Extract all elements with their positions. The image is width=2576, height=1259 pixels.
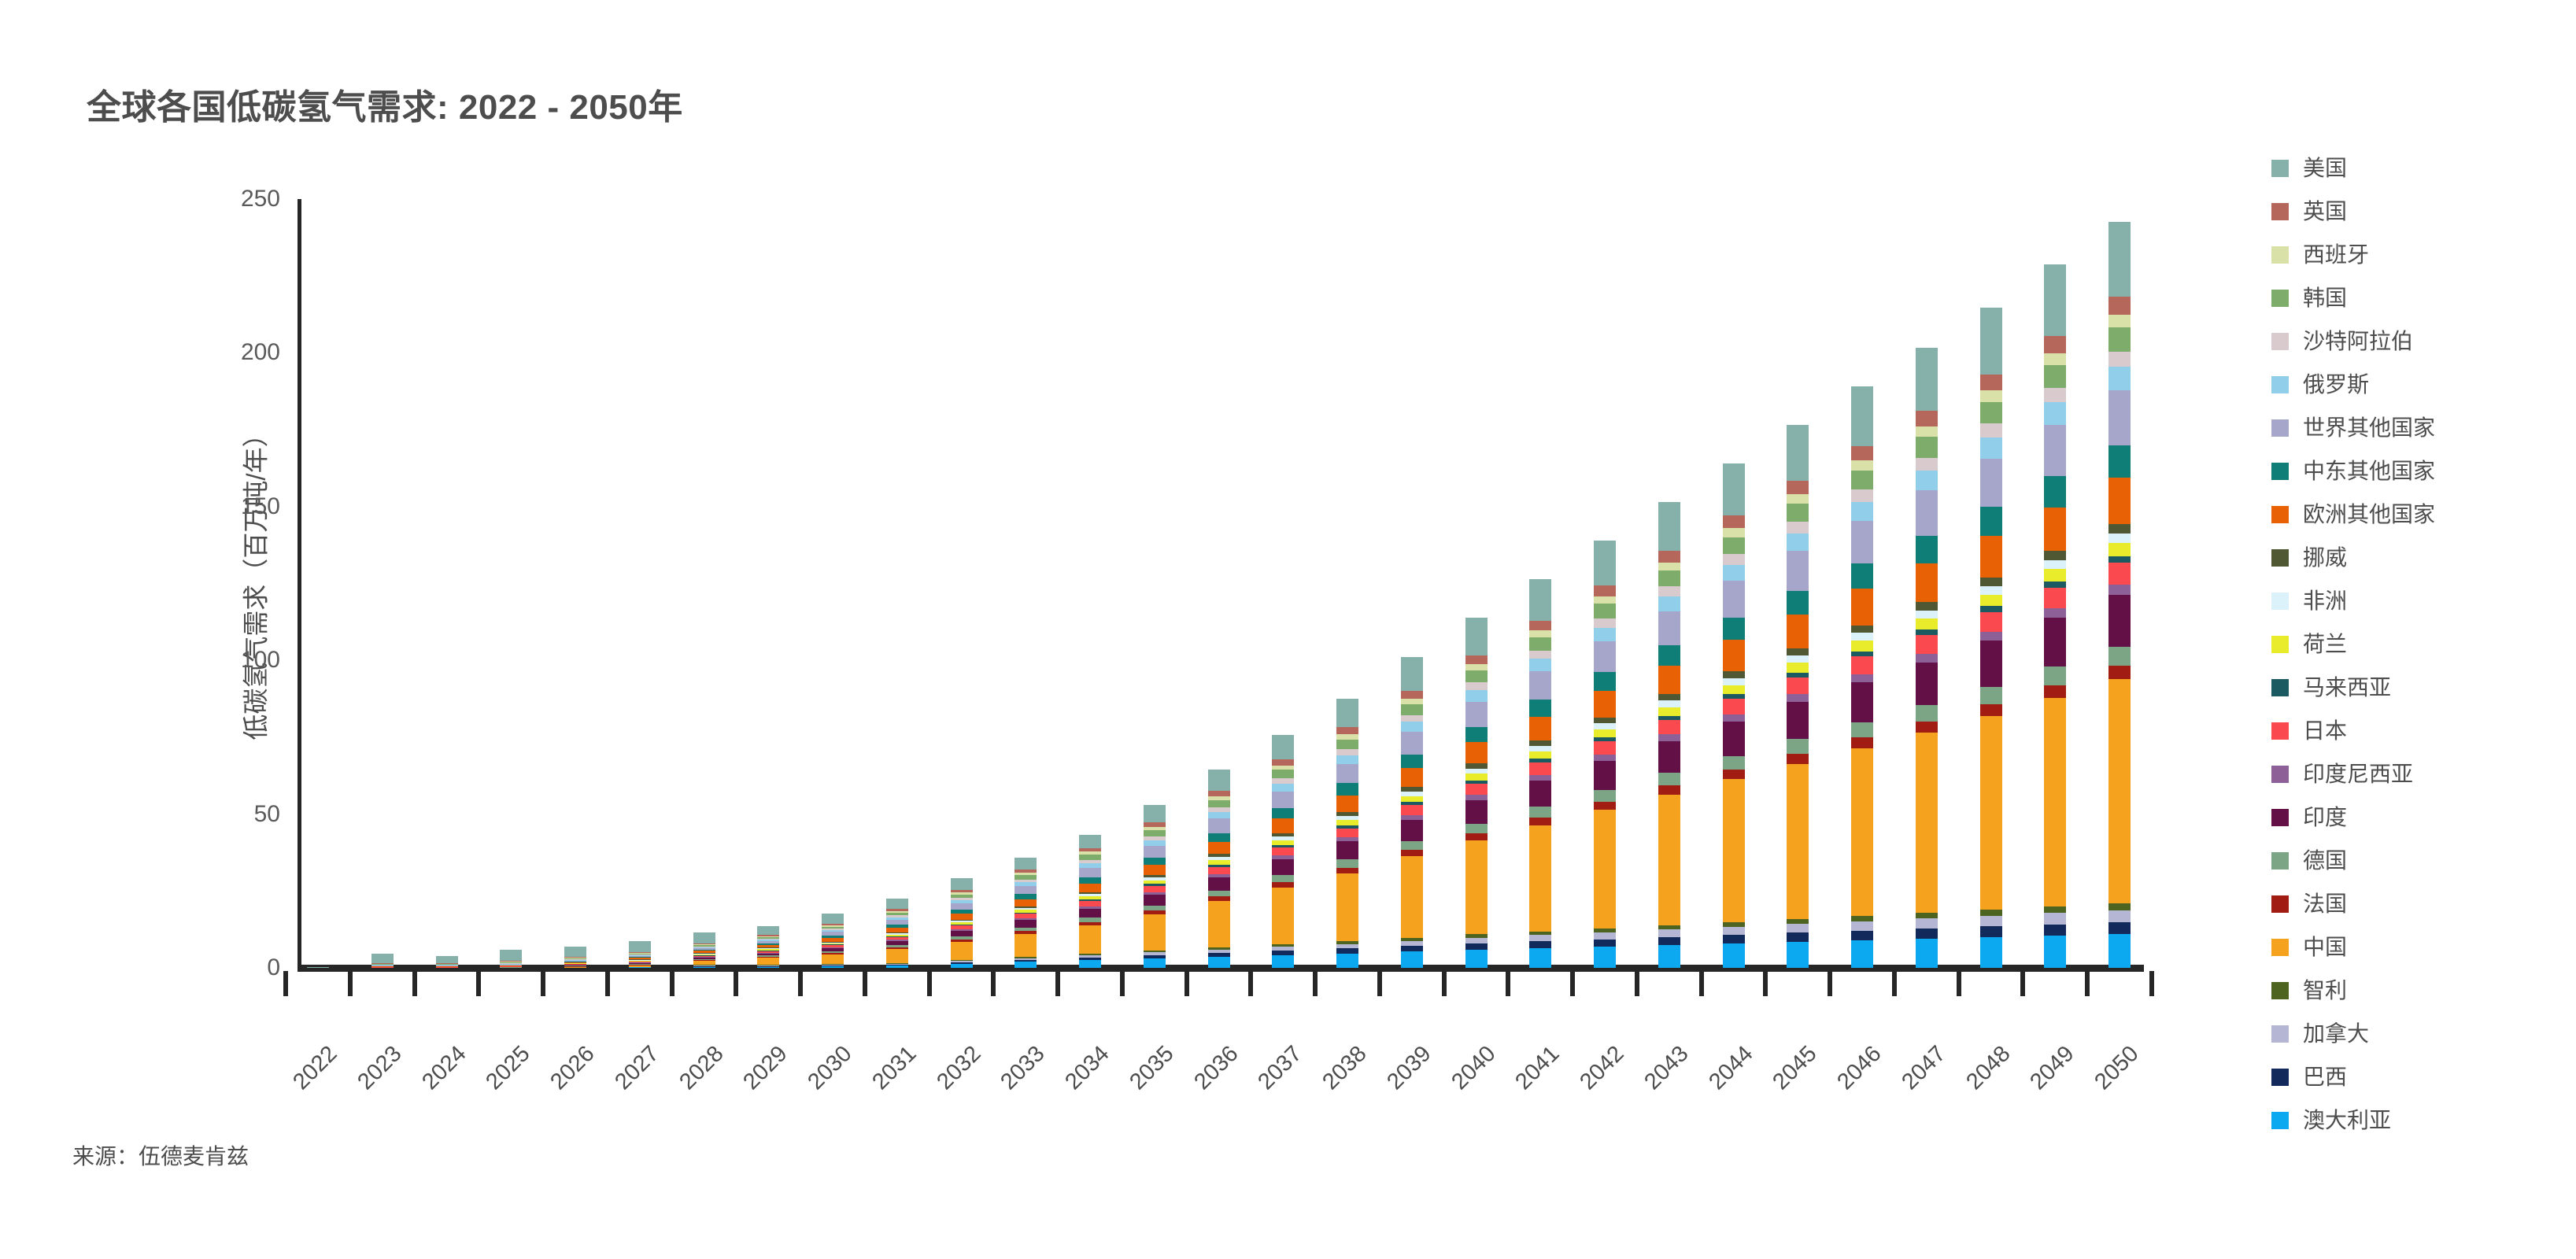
bar-segment[interactable] bbox=[1980, 632, 2002, 641]
bar-segment[interactable] bbox=[1529, 746, 1551, 751]
bar-segment[interactable] bbox=[371, 967, 394, 968]
bar-segment[interactable] bbox=[2044, 906, 2066, 913]
bar-segment[interactable] bbox=[1336, 873, 1358, 941]
bar-segment[interactable] bbox=[2108, 524, 2131, 534]
bar-segment[interactable] bbox=[436, 967, 458, 968]
bar-segment[interactable] bbox=[1723, 618, 1745, 640]
bar-segment[interactable] bbox=[1401, 732, 1423, 754]
bar-segment[interactable] bbox=[2044, 666, 2066, 685]
bar-segment[interactable] bbox=[1208, 833, 1230, 842]
bar-segment[interactable] bbox=[1594, 741, 1616, 755]
bar-segment[interactable] bbox=[2044, 264, 2066, 335]
bar-segment[interactable] bbox=[307, 967, 329, 968]
bar-stack[interactable] bbox=[564, 947, 586, 968]
bar-segment[interactable] bbox=[2108, 352, 2131, 367]
bar-stack[interactable] bbox=[1144, 805, 1166, 968]
bar-segment[interactable] bbox=[1208, 901, 1230, 947]
bar-segment[interactable] bbox=[1465, 742, 1488, 763]
bar-segment[interactable] bbox=[1723, 770, 1745, 779]
bar-segment[interactable] bbox=[1144, 830, 1166, 836]
bar-segment[interactable] bbox=[1336, 699, 1358, 727]
bar-segment[interactable] bbox=[1336, 764, 1358, 784]
legend-item[interactable]: 西班牙 bbox=[2271, 233, 2539, 276]
bar-segment[interactable] bbox=[1916, 563, 1938, 602]
bar-segment[interactable] bbox=[1851, 682, 1873, 722]
bar-segment[interactable] bbox=[1787, 522, 1809, 534]
legend-item[interactable]: 巴西 bbox=[2271, 1055, 2539, 1098]
bar-segment[interactable] bbox=[1401, 856, 1423, 938]
legend-item[interactable]: 印度尼西亚 bbox=[2271, 752, 2539, 796]
bar-segment[interactable] bbox=[2108, 543, 2131, 556]
bar-segment[interactable] bbox=[2044, 936, 2066, 968]
bar-segment[interactable] bbox=[1851, 641, 1873, 651]
bar-segment[interactable] bbox=[1851, 656, 1873, 674]
legend-item[interactable]: 欧洲其他国家 bbox=[2271, 493, 2539, 536]
bar-segment[interactable] bbox=[1272, 818, 1294, 833]
bar-segment[interactable] bbox=[629, 941, 651, 952]
bar-segment[interactable] bbox=[2044, 336, 2066, 353]
bar-segment[interactable] bbox=[1594, 947, 1616, 968]
bar-segment[interactable] bbox=[1015, 920, 1037, 927]
bar-segment[interactable] bbox=[1723, 756, 1745, 770]
bar-segment[interactable] bbox=[1144, 958, 1166, 968]
bar-segment[interactable] bbox=[2108, 445, 2131, 478]
bar-segment[interactable] bbox=[1529, 579, 1551, 620]
legend-item[interactable]: 中东其他国家 bbox=[2271, 449, 2539, 493]
bar-segment[interactable] bbox=[2108, 922, 2131, 935]
bar-segment[interactable] bbox=[1658, 645, 1680, 666]
bar-segment[interactable] bbox=[1658, 929, 1680, 937]
bar-segment[interactable] bbox=[1723, 554, 1745, 565]
bar-segment[interactable] bbox=[1851, 471, 1873, 490]
bar-stack[interactable] bbox=[371, 954, 394, 969]
legend-item[interactable]: 印度 bbox=[2271, 796, 2539, 839]
bar-segment[interactable] bbox=[1465, 618, 1488, 655]
bar-segment[interactable] bbox=[1529, 700, 1551, 717]
legend-item[interactable]: 美国 bbox=[2271, 146, 2539, 190]
legend-item[interactable]: 俄罗斯 bbox=[2271, 363, 2539, 406]
legend-item[interactable]: 日本 bbox=[2271, 709, 2539, 752]
bar-segment[interactable] bbox=[1465, 670, 1488, 682]
bar-segment[interactable] bbox=[822, 966, 844, 968]
bar-segment[interactable] bbox=[1916, 733, 1938, 913]
bar-segment[interactable] bbox=[1465, 690, 1488, 701]
bar-segment[interactable] bbox=[2108, 910, 2131, 922]
bar-stack[interactable] bbox=[757, 926, 779, 968]
bar-segment[interactable] bbox=[1851, 748, 1873, 916]
bar-segment[interactable] bbox=[500, 950, 522, 961]
bar-segment[interactable] bbox=[1015, 962, 1037, 968]
bar-segment[interactable] bbox=[1851, 489, 1873, 502]
bar-segment[interactable] bbox=[1529, 941, 1551, 948]
bar-segment[interactable] bbox=[1144, 840, 1166, 846]
bar-segment[interactable] bbox=[2044, 608, 2066, 618]
bar-segment[interactable] bbox=[1980, 586, 2002, 595]
bar-stack[interactable] bbox=[1787, 425, 1809, 968]
bar-segment[interactable] bbox=[1144, 865, 1166, 875]
bar-segment[interactable] bbox=[1594, 932, 1616, 940]
bar-stack[interactable] bbox=[1015, 858, 1037, 968]
bar-segment[interactable] bbox=[2044, 551, 2066, 560]
bar-segment[interactable] bbox=[1401, 657, 1423, 691]
bar-segment[interactable] bbox=[1272, 859, 1294, 875]
bar-segment[interactable] bbox=[1916, 705, 1938, 722]
bar-segment[interactable] bbox=[1465, 943, 1488, 950]
bar-segment[interactable] bbox=[1529, 807, 1551, 818]
bar-segment[interactable] bbox=[1079, 877, 1101, 884]
bar-segment[interactable] bbox=[951, 964, 973, 968]
bar-segment[interactable] bbox=[1594, 723, 1616, 729]
bar-segment[interactable] bbox=[2108, 478, 2131, 524]
bar-segment[interactable] bbox=[1787, 648, 1809, 655]
bar-segment[interactable] bbox=[1336, 727, 1358, 734]
bar-segment[interactable] bbox=[1916, 913, 1938, 918]
bar-segment[interactable] bbox=[1465, 727, 1488, 743]
bar-segment[interactable] bbox=[1787, 694, 1809, 701]
bar-segment[interactable] bbox=[2044, 508, 2066, 551]
bar-stack[interactable] bbox=[2044, 264, 2066, 968]
bar-segment[interactable] bbox=[1465, 840, 1488, 934]
bar-segment[interactable] bbox=[1658, 945, 1680, 968]
bar-segment[interactable] bbox=[1015, 858, 1037, 870]
bar-stack[interactable] bbox=[2108, 222, 2131, 968]
bar-segment[interactable] bbox=[1851, 502, 1873, 521]
bar-stack[interactable] bbox=[1465, 618, 1488, 968]
bar-segment[interactable] bbox=[1723, 565, 1745, 582]
bar-segment[interactable] bbox=[1787, 754, 1809, 764]
legend-item[interactable]: 智利 bbox=[2271, 969, 2539, 1012]
bar-segment[interactable] bbox=[1079, 868, 1101, 878]
bar-segment[interactable] bbox=[1851, 589, 1873, 625]
bar-segment[interactable] bbox=[1980, 390, 2002, 401]
bar-stack[interactable] bbox=[693, 932, 715, 968]
legend-item[interactable]: 世界其他国家 bbox=[2271, 406, 2539, 449]
bar-segment[interactable] bbox=[2044, 365, 2066, 388]
bar-segment[interactable] bbox=[1787, 504, 1809, 522]
bar-segment[interactable] bbox=[1401, 699, 1423, 704]
bar-stack[interactable] bbox=[307, 967, 329, 968]
bar-segment[interactable] bbox=[1594, 691, 1616, 718]
bar-segment[interactable] bbox=[1594, 596, 1616, 604]
bar-segment[interactable] bbox=[1916, 411, 1938, 426]
bar-segment[interactable] bbox=[1787, 942, 1809, 968]
bar-segment[interactable] bbox=[2108, 534, 2131, 544]
bar-segment[interactable] bbox=[1015, 899, 1037, 906]
bar-segment[interactable] bbox=[1723, 528, 1745, 537]
bar-segment[interactable] bbox=[1401, 691, 1423, 699]
bar-segment[interactable] bbox=[1723, 671, 1745, 678]
bar-segment[interactable] bbox=[1401, 941, 1423, 947]
bar-stack[interactable] bbox=[500, 950, 522, 968]
bar-segment[interactable] bbox=[1851, 652, 1873, 657]
bar-segment[interactable] bbox=[1144, 914, 1166, 951]
bar-segment[interactable] bbox=[1401, 805, 1423, 815]
bar-segment[interactable] bbox=[1465, 824, 1488, 834]
bar-segment[interactable] bbox=[1208, 770, 1230, 791]
bar-segment[interactable] bbox=[1401, 841, 1423, 850]
bar-segment[interactable] bbox=[1658, 570, 1680, 586]
bar-segment[interactable] bbox=[1401, 946, 1423, 951]
bar-segment[interactable] bbox=[1658, 700, 1680, 707]
bar-segment[interactable] bbox=[1401, 755, 1423, 768]
bar-segment[interactable] bbox=[2108, 903, 2131, 910]
bar-segment[interactable] bbox=[1658, 694, 1680, 700]
bar-segment[interactable] bbox=[1079, 960, 1101, 968]
bar-segment[interactable] bbox=[2108, 679, 2131, 903]
bar-segment[interactable] bbox=[1465, 950, 1488, 968]
bar-segment[interactable] bbox=[1079, 855, 1101, 860]
bar-segment[interactable] bbox=[564, 967, 586, 968]
bar-segment[interactable] bbox=[1916, 663, 1938, 706]
bar-segment[interactable] bbox=[1658, 720, 1680, 734]
bar-segment[interactable] bbox=[2108, 222, 2131, 297]
bar-segment[interactable] bbox=[1208, 891, 1230, 897]
bar-segment[interactable] bbox=[1272, 759, 1294, 766]
bar-segment[interactable] bbox=[1529, 818, 1551, 825]
bar-segment[interactable] bbox=[2044, 560, 2066, 570]
bar-segment[interactable] bbox=[1144, 805, 1166, 821]
bar-segment[interactable] bbox=[1465, 938, 1488, 943]
bar-segment[interactable] bbox=[1980, 716, 2002, 910]
bar-segment[interactable] bbox=[1851, 633, 1873, 641]
bar-segment[interactable] bbox=[1980, 910, 2002, 915]
bar-stack[interactable] bbox=[1723, 463, 1745, 968]
bar-segment[interactable] bbox=[1465, 833, 1488, 840]
bar-segment[interactable] bbox=[757, 967, 779, 968]
bar-segment[interactable] bbox=[1723, 779, 1745, 922]
bar-stack[interactable] bbox=[1208, 770, 1230, 968]
bar-segment[interactable] bbox=[2108, 327, 2131, 352]
bar-segment[interactable] bbox=[1980, 578, 2002, 586]
legend-item[interactable]: 韩国 bbox=[2271, 276, 2539, 319]
bar-segment[interactable] bbox=[1916, 490, 1938, 536]
bar-segment[interactable] bbox=[1980, 641, 2002, 687]
bar-segment[interactable] bbox=[2108, 666, 2131, 679]
bar-segment[interactable] bbox=[951, 878, 973, 890]
bar-segment[interactable] bbox=[1272, 784, 1294, 792]
bar-segment[interactable] bbox=[1529, 621, 1551, 631]
bar-segment[interactable] bbox=[2108, 367, 2131, 390]
bar-stack[interactable] bbox=[1529, 579, 1551, 968]
bar-segment[interactable] bbox=[1723, 943, 1745, 968]
bar-stack[interactable] bbox=[1658, 502, 1680, 968]
bar-segment[interactable] bbox=[1272, 792, 1294, 808]
bar-segment[interactable] bbox=[2044, 425, 2066, 477]
legend-item[interactable]: 马来西亚 bbox=[2271, 666, 2539, 709]
bar-segment[interactable] bbox=[2044, 618, 2066, 667]
bar-segment[interactable] bbox=[1980, 402, 2002, 424]
bar-segment[interactable] bbox=[1594, 729, 1616, 737]
bar-segment[interactable] bbox=[951, 942, 973, 960]
bar-segment[interactable] bbox=[2044, 353, 2066, 365]
bar-segment[interactable] bbox=[1336, 749, 1358, 755]
bar-segment[interactable] bbox=[1529, 825, 1551, 932]
bar-segment[interactable] bbox=[2108, 647, 2131, 666]
bar-segment[interactable] bbox=[1916, 722, 1938, 733]
bar-segment[interactable] bbox=[1658, 611, 1680, 645]
bar-segment[interactable] bbox=[1851, 521, 1873, 563]
bar-segment[interactable] bbox=[1916, 348, 1938, 412]
bar-segment[interactable] bbox=[2044, 388, 2066, 403]
bar-segment[interactable] bbox=[1465, 702, 1488, 727]
bar-segment[interactable] bbox=[1980, 308, 2002, 375]
bar-segment[interactable] bbox=[2044, 588, 2066, 609]
legend-item[interactable]: 法国 bbox=[2271, 882, 2539, 925]
bar-segment[interactable] bbox=[1851, 916, 1873, 921]
bar-segment[interactable] bbox=[1787, 663, 1809, 673]
legend-item[interactable]: 沙特阿拉伯 bbox=[2271, 319, 2539, 363]
bar-segment[interactable] bbox=[1401, 768, 1423, 787]
bar-segment[interactable] bbox=[951, 914, 973, 919]
legend-item[interactable]: 英国 bbox=[2271, 190, 2539, 233]
bar-segment[interactable] bbox=[1916, 437, 1938, 457]
bar-segment[interactable] bbox=[1723, 935, 1745, 943]
bar-segment[interactable] bbox=[1465, 664, 1488, 670]
bar-segment[interactable] bbox=[1916, 635, 1938, 654]
bar-segment[interactable] bbox=[1529, 637, 1551, 651]
bar-segment[interactable] bbox=[1723, 927, 1745, 936]
bar-segment[interactable] bbox=[1529, 935, 1551, 941]
bar-segment[interactable] bbox=[693, 932, 715, 943]
bar-segment[interactable] bbox=[1980, 438, 2002, 459]
bar-segment[interactable] bbox=[1658, 773, 1680, 785]
bar-segment[interactable] bbox=[1144, 906, 1166, 911]
bar-segment[interactable] bbox=[2044, 569, 2066, 582]
bar-segment[interactable] bbox=[1916, 611, 1938, 619]
bar-segment[interactable] bbox=[1529, 659, 1551, 671]
bar-segment[interactable] bbox=[1079, 835, 1101, 847]
bar-segment[interactable] bbox=[822, 914, 844, 924]
bar-segment[interactable] bbox=[1015, 934, 1037, 957]
bar-segment[interactable] bbox=[371, 954, 394, 964]
bar-segment[interactable] bbox=[1916, 536, 1938, 563]
bar-segment[interactable] bbox=[1658, 785, 1680, 794]
bar-segment[interactable] bbox=[1916, 929, 1938, 939]
bar-segment[interactable] bbox=[1272, 808, 1294, 818]
bar-segment[interactable] bbox=[1272, 882, 1294, 888]
bar-segment[interactable] bbox=[1272, 888, 1294, 944]
bar-segment[interactable] bbox=[1787, 615, 1809, 648]
bar-segment[interactable] bbox=[2108, 563, 2131, 585]
bar-segment[interactable] bbox=[1144, 895, 1166, 906]
bar-segment[interactable] bbox=[1916, 471, 1938, 490]
bar-stack[interactable] bbox=[886, 899, 908, 968]
bar-segment[interactable] bbox=[1787, 551, 1809, 591]
bar-segment[interactable] bbox=[1272, 770, 1294, 778]
bar-segment[interactable] bbox=[693, 967, 715, 968]
bar-segment[interactable] bbox=[886, 949, 908, 962]
bar-segment[interactable] bbox=[2044, 698, 2066, 907]
bar-segment[interactable] bbox=[1079, 925, 1101, 954]
bar-segment[interactable] bbox=[1916, 918, 1938, 929]
bar-segment[interactable] bbox=[1208, 800, 1230, 807]
bar-segment[interactable] bbox=[1272, 847, 1294, 855]
bar-segment[interactable] bbox=[1529, 948, 1551, 968]
bar-segment[interactable] bbox=[1594, 761, 1616, 790]
bar-stack[interactable] bbox=[1401, 657, 1423, 968]
bar-stack[interactable] bbox=[1079, 835, 1101, 968]
bar-segment[interactable] bbox=[1594, 604, 1616, 618]
bar-segment[interactable] bbox=[564, 947, 586, 957]
bar-segment[interactable] bbox=[822, 954, 844, 965]
legend-item[interactable]: 非洲 bbox=[2271, 579, 2539, 622]
bar-segment[interactable] bbox=[886, 899, 908, 910]
bar-segment[interactable] bbox=[1465, 800, 1488, 824]
bar-segment[interactable] bbox=[886, 920, 908, 925]
bar-segment[interactable] bbox=[1208, 818, 1230, 833]
bar-segment[interactable] bbox=[1851, 737, 1873, 748]
bar-segment[interactable] bbox=[2044, 476, 2066, 507]
bar-segment[interactable] bbox=[1851, 722, 1873, 738]
bar-segment[interactable] bbox=[1594, 641, 1616, 672]
bar-segment[interactable] bbox=[1980, 595, 2002, 607]
bar-segment[interactable] bbox=[1529, 717, 1551, 740]
bar-segment[interactable] bbox=[1144, 858, 1166, 865]
bar-segment[interactable] bbox=[1851, 563, 1873, 589]
bar-segment[interactable] bbox=[1851, 460, 1873, 471]
bar-segment[interactable] bbox=[1851, 940, 1873, 968]
bar-segment[interactable] bbox=[757, 926, 779, 936]
bar-segment[interactable] bbox=[2044, 685, 2066, 698]
bar-segment[interactable] bbox=[1723, 463, 1745, 515]
bar-segment[interactable] bbox=[1401, 715, 1423, 722]
bar-segment[interactable] bbox=[1465, 773, 1488, 781]
bar-segment[interactable] bbox=[1787, 702, 1809, 740]
bar-segment[interactable] bbox=[1208, 842, 1230, 855]
bar-segment[interactable] bbox=[2108, 315, 2131, 327]
bar-segment[interactable] bbox=[2108, 297, 2131, 315]
bar-segment[interactable] bbox=[1594, 790, 1616, 802]
bar-segment[interactable] bbox=[1980, 536, 2002, 577]
bar-segment[interactable] bbox=[1980, 612, 2002, 632]
legend-item[interactable]: 中国 bbox=[2271, 925, 2539, 969]
bar-segment[interactable] bbox=[1079, 909, 1101, 917]
bar-segment[interactable] bbox=[951, 903, 973, 910]
bar-segment[interactable] bbox=[1594, 541, 1616, 585]
bar-segment[interactable] bbox=[2108, 595, 2131, 647]
bar-segment[interactable] bbox=[1079, 901, 1101, 906]
bar-segment[interactable] bbox=[1787, 591, 1809, 615]
bar-segment[interactable] bbox=[1851, 921, 1873, 931]
legend-item[interactable]: 澳大利亚 bbox=[2271, 1098, 2539, 1142]
bar-segment[interactable] bbox=[1529, 651, 1551, 659]
bar-segment[interactable] bbox=[1208, 812, 1230, 818]
bar-stack[interactable] bbox=[436, 956, 458, 968]
bar-segment[interactable] bbox=[1465, 784, 1488, 795]
bar-segment[interactable] bbox=[1787, 655, 1809, 663]
bar-segment[interactable] bbox=[1336, 820, 1358, 825]
bar-segment[interactable] bbox=[1401, 850, 1423, 856]
bar-segment[interactable] bbox=[1980, 606, 2002, 611]
bar-segment[interactable] bbox=[1980, 375, 2002, 391]
bar-segment[interactable] bbox=[1980, 704, 2002, 716]
bar-segment[interactable] bbox=[1787, 764, 1809, 919]
bar-segment[interactable] bbox=[2108, 934, 2131, 968]
bar-segment[interactable] bbox=[1015, 886, 1037, 894]
bar-segment[interactable] bbox=[436, 956, 458, 963]
bar-segment[interactable] bbox=[1465, 682, 1488, 690]
bar-segment[interactable] bbox=[1658, 502, 1680, 551]
bar-segment[interactable] bbox=[1658, 551, 1680, 563]
bar-segment[interactable] bbox=[2108, 556, 2131, 563]
bar-segment[interactable] bbox=[1529, 671, 1551, 700]
bar-segment[interactable] bbox=[1079, 884, 1101, 892]
bar-segment[interactable] bbox=[1980, 916, 2002, 927]
bar-segment[interactable] bbox=[886, 965, 908, 968]
bar-stack[interactable] bbox=[629, 941, 651, 968]
bar-segment[interactable] bbox=[1723, 537, 1745, 554]
bar-segment[interactable] bbox=[1594, 810, 1616, 928]
